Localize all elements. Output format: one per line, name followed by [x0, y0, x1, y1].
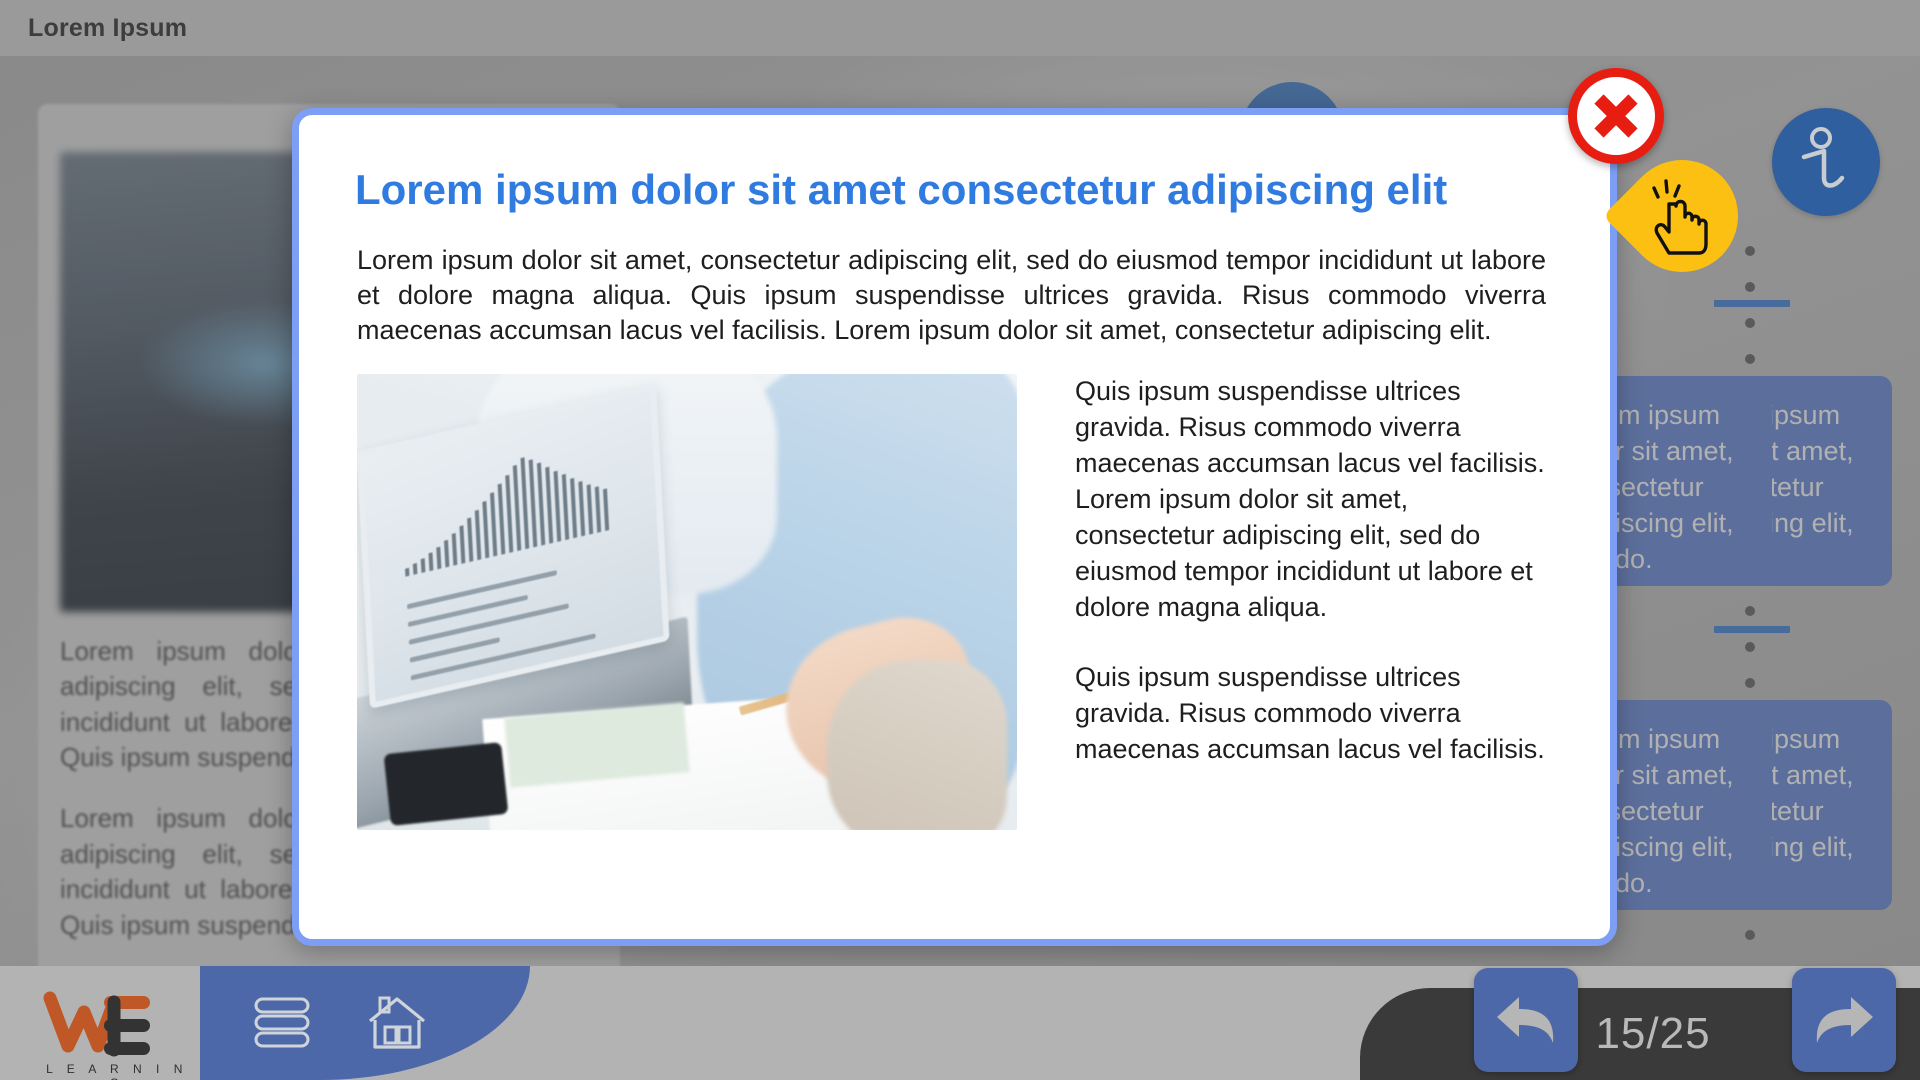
modal-title: Lorem ipsum dolor sit amet consectetur a… [299, 115, 1610, 213]
bottom-nav-panel [200, 966, 530, 1080]
page-indicator: 15/25 [1595, 1009, 1710, 1059]
logo-wordmark: L E A R N I N G [42, 1062, 192, 1080]
arrow-back-icon [1493, 991, 1559, 1049]
modal-right-column: Quis ipsum suspendisse ultrices gravida.… [1075, 374, 1548, 830]
info-button[interactable] [1772, 108, 1880, 216]
home-icon[interactable] [366, 994, 428, 1052]
close-button[interactable] [1568, 68, 1664, 164]
page-title: Lorem Ipsum [28, 14, 187, 43]
bottom-toolbar: L E A R N I N G 15/25 [0, 966, 1920, 1080]
photo-phone [384, 742, 509, 826]
modal-right-paragraph: Quis ipsum suspendisse ultrices gravida.… [1075, 660, 1548, 768]
modal-photo [357, 374, 1017, 830]
cursor-hint [1626, 160, 1738, 272]
info-i-icon [1798, 126, 1854, 198]
content-modal: Lorem ipsum dolor sit amet consectetur a… [292, 108, 1617, 946]
modal-columns: Quis ipsum suspendisse ultrices gravida.… [299, 348, 1610, 830]
photo-sleeve [827, 660, 1007, 830]
previous-page-button[interactable] [1474, 968, 1578, 1072]
photo-bar-chart [400, 432, 625, 577]
modal-intro-paragraph: Lorem ipsum dolor sit amet, consectetur … [299, 213, 1610, 348]
hamburger-menu-icon[interactable] [254, 996, 310, 1050]
pointing-hand-cursor-icon [1642, 174, 1724, 258]
arrow-forward-icon [1811, 991, 1877, 1049]
close-x-icon [1589, 89, 1643, 143]
slide-viewer: Lorem ipsum dolor sit amet, consectetur … [0, 0, 1920, 1080]
next-page-button[interactable] [1792, 968, 1896, 1072]
modal-right-paragraph: Quis ipsum suspendisse ultrices gravida.… [1075, 374, 1548, 625]
header-bar: Lorem Ipsum [0, 0, 1920, 56]
we-logo-icon [42, 988, 192, 1060]
